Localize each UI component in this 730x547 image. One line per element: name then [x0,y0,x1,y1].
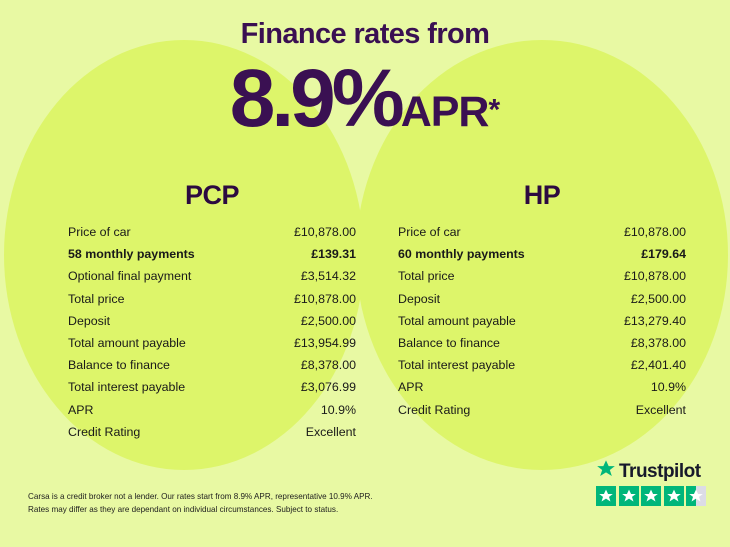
row-value: 10.9% [651,380,686,394]
row-label: Credit Rating [68,425,140,439]
row-value: £10,878.00 [294,292,356,306]
rate-unit: APR [401,88,489,136]
table-row: Total interest payable £2,401.40 [392,358,692,380]
table-row: Total price £10,878.00 [62,292,362,314]
row-label: Optional final payment [68,269,191,283]
row-value: £13,279.40 [624,314,686,328]
row-label: 60 monthly payments [398,247,525,261]
row-value: £8,378.00 [631,336,686,350]
finance-table-pcp: Price of car £10,878.00 58 monthly payme… [62,225,362,447]
trustpilot-wordmark: Trustpilot [619,462,701,481]
disclaimer-line-1: Carsa is a credit broker not a lender. O… [28,490,373,503]
star-icon-5-half [686,486,706,506]
row-label: Total interest payable [68,380,185,394]
rate-display: 8.9%APR* [0,58,730,140]
row-value: £2,401.40 [631,358,686,372]
row-value: £10,878.00 [294,225,356,239]
table-row: Total interest payable £3,076.99 [62,380,362,402]
row-label: Deposit [68,314,110,328]
row-label: Price of car [68,225,131,239]
table-row: Credit Rating Excellent [62,425,362,447]
row-label: Credit Rating [398,403,470,417]
table-row: Total amount payable £13,279.40 [392,314,692,336]
table-row: APR 10.9% [392,380,692,402]
row-value: £139.31 [311,247,356,261]
star-icon-1 [596,486,616,506]
table-row: Price of car £10,878.00 [62,225,362,247]
row-value: £2,500.00 [301,314,356,328]
row-label: Balance to finance [398,336,500,350]
table-row: 60 monthly payments £179.64 [392,247,692,269]
row-label: Deposit [398,292,440,306]
table-row: Total amount payable £13,954.99 [62,336,362,358]
row-label: 58 monthly payments [68,247,195,261]
row-label: Total amount payable [398,314,516,328]
row-value: £179.64 [641,247,686,261]
trustpilot-star-row [596,486,714,506]
panel-title-hp: HP [392,182,692,209]
row-label: APR [398,380,423,394]
finance-panel-hp: HP Price of car £10,878.00 60 monthly pa… [392,182,692,425]
finance-table-hp: Price of car £10,878.00 60 monthly payme… [392,225,692,425]
row-label: Total price [68,292,124,306]
table-row: Balance to finance £8,378.00 [392,336,692,358]
banner-content: Finance rates from 8.9%APR* PCP Price of… [0,0,730,547]
disclaimer: Carsa is a credit broker not a lender. O… [28,490,373,517]
disclaimer-line-2: Rates may differ as they are dependant o… [28,503,373,516]
trustpilot-logo: Trustpilot [596,460,714,482]
star-icon-4 [664,486,684,506]
row-value: £13,954.99 [294,336,356,350]
table-row: Price of car £10,878.00 [392,225,692,247]
row-value: £3,076.99 [301,380,356,394]
row-value: £8,378.00 [301,358,356,372]
finance-panel-pcp: PCP Price of car £10,878.00 58 monthly p… [62,182,362,447]
row-value: Excellent [306,425,356,439]
row-label: Total interest payable [398,358,515,372]
trustpilot-star-icon [596,459,616,484]
row-label: Total price [398,269,454,283]
table-row: Deposit £2,500.00 [62,314,362,336]
row-label: Total amount payable [68,336,186,350]
rate-asterisk: * [489,94,501,127]
table-row: APR 10.9% [62,403,362,425]
trustpilot-rating: Trustpilot [596,460,714,506]
table-row: Balance to finance £8,378.00 [62,358,362,380]
star-icon-3 [641,486,661,506]
star-icon-2 [619,486,639,506]
table-row: Total price £10,878.00 [392,269,692,291]
table-row: Optional final payment £3,514.32 [62,269,362,291]
panel-title-pcp: PCP [62,182,362,209]
rate-value: 8.9% [230,53,401,144]
row-value: Excellent [636,403,686,417]
finance-rates-banner: Finance rates from 8.9%APR* PCP Price of… [0,0,730,547]
row-label: Balance to finance [68,358,170,372]
row-label: Price of car [398,225,461,239]
headline: Finance rates from [0,20,730,49]
row-value: 10.9% [321,403,356,417]
row-value: £10,878.00 [624,269,686,283]
row-value: £2,500.00 [631,292,686,306]
table-row: 58 monthly payments £139.31 [62,247,362,269]
table-row: Credit Rating Excellent [392,403,692,425]
row-label: APR [68,403,93,417]
row-value: £3,514.32 [301,269,356,283]
row-value: £10,878.00 [624,225,686,239]
table-row: Deposit £2,500.00 [392,292,692,314]
